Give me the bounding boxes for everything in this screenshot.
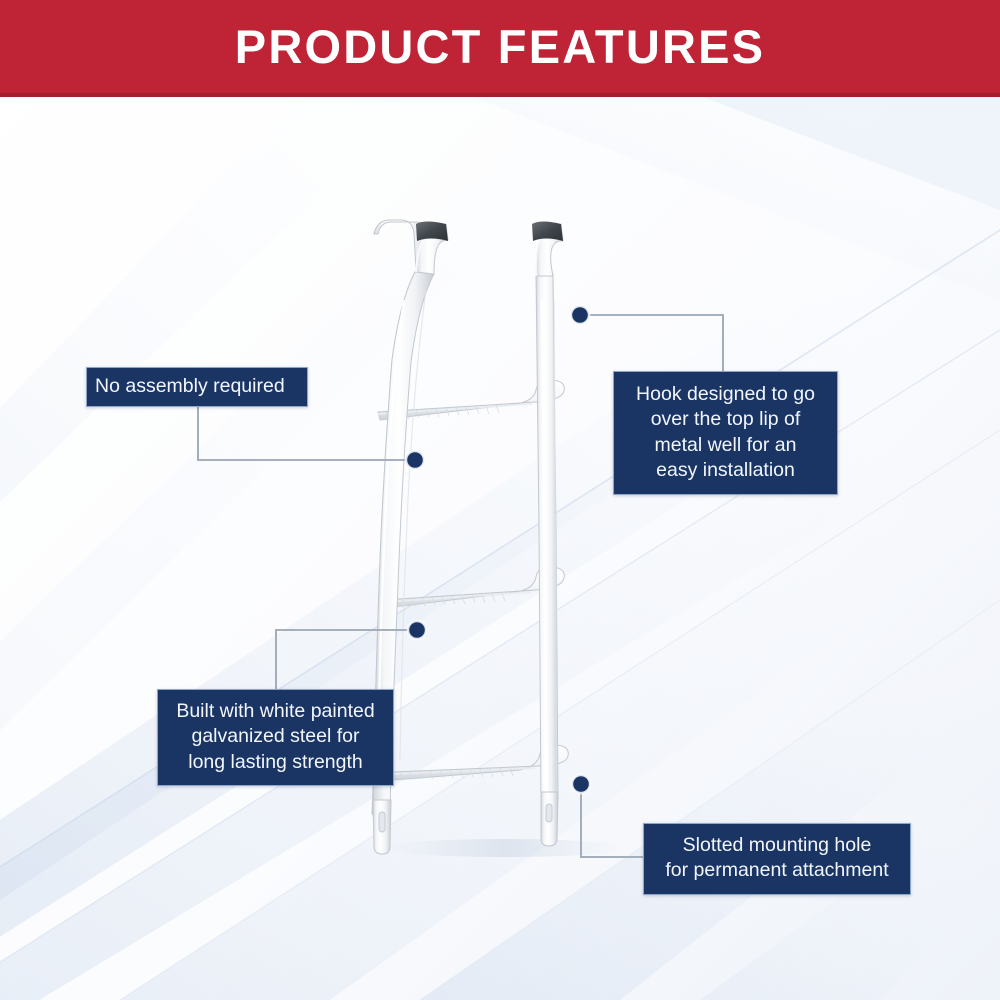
marker-dot-slotted [573, 776, 590, 793]
callout-hook-text: Hook designed to go over the top lip of … [622, 382, 829, 483]
callout-hook: Hook designed to go over the top lip of … [613, 371, 838, 495]
marker-dot-no-assembly [407, 452, 424, 469]
marker-dots [405, 305, 592, 795]
callout-slotted: Slotted mounting hole for permanent atta… [643, 823, 911, 895]
callout-no-assembly: No assembly required [86, 367, 308, 407]
marker-dot-hook [572, 307, 589, 324]
page-title: PRODUCT FEATURES [0, 0, 1000, 93]
callout-steel: Built with white painted galvanized stee… [157, 689, 394, 786]
connector-steel [276, 630, 409, 689]
product-features-infographic: PRODUCT FEATURES [0, 0, 1000, 1000]
connector-slotted [581, 793, 643, 857]
callout-no-assembly-text: No assembly required [95, 374, 299, 399]
connector-no-assembly [198, 405, 408, 460]
callout-steel-text: Built with white painted galvanized stee… [166, 699, 385, 775]
connector-hook [588, 315, 723, 371]
callout-slotted-text: Slotted mounting hole for permanent atta… [652, 833, 902, 884]
header-banner-underline [0, 93, 1000, 97]
marker-dot-steel [409, 622, 426, 639]
